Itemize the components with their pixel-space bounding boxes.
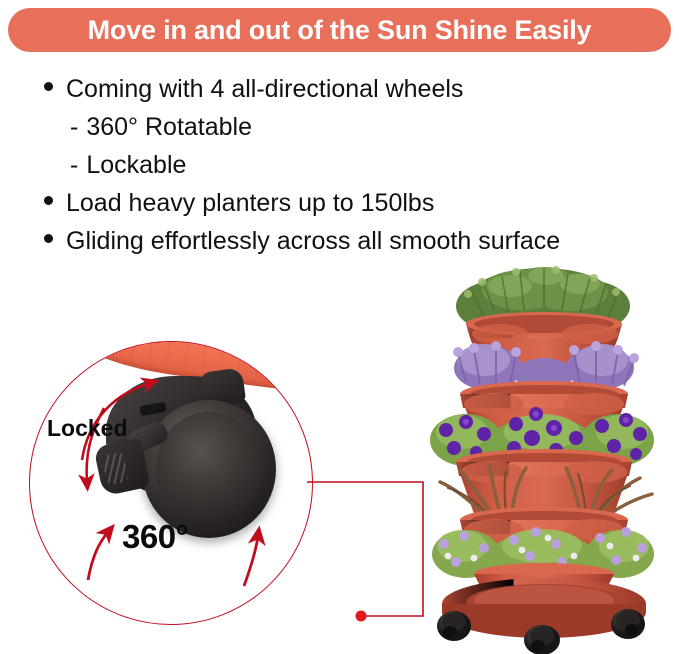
feature-item-label: Coming with 4 all-directional wheels bbox=[66, 70, 463, 108]
callout-ring: Locked 360° bbox=[29, 341, 313, 625]
planter-tower-image bbox=[404, 262, 679, 654]
base-caster-wheel-center bbox=[524, 625, 560, 654]
dash-marker-icon: - bbox=[70, 108, 78, 146]
feature-subitem-label: Lockable bbox=[86, 146, 186, 184]
feature-subitem-lockable: - Lockable bbox=[44, 146, 672, 184]
header-banner: Move in and out of the Sun Shine Easily bbox=[8, 8, 671, 52]
rotation-label: 360° bbox=[122, 518, 188, 556]
caster-brake-pad bbox=[93, 438, 150, 497]
feature-subitem-rotatable: - 360° Rotatable bbox=[44, 108, 672, 146]
planter-tower-svg bbox=[404, 262, 679, 654]
bullet-dot-icon bbox=[44, 234, 53, 243]
caster-hub bbox=[156, 412, 262, 524]
caster-callout: Locked 360° bbox=[29, 341, 313, 625]
feature-item-gliding: Gliding effortlessly across all smooth s… bbox=[44, 222, 672, 260]
connector-endpoint-dot bbox=[356, 611, 367, 622]
dash-marker-icon: - bbox=[70, 146, 78, 184]
feature-item-label: Load heavy planters up to 150lbs bbox=[66, 184, 434, 222]
feature-item-load-capacity: Load heavy planters up to 150lbs bbox=[44, 184, 672, 222]
bullet-dot-icon bbox=[44, 196, 53, 205]
bullet-dot-icon bbox=[44, 82, 53, 91]
feature-item-label: Gliding effortlessly across all smooth s… bbox=[66, 222, 560, 260]
feature-item-wheels: Coming with 4 all-directional wheels bbox=[44, 70, 672, 108]
locked-label: Locked bbox=[47, 415, 128, 442]
feature-list: Coming with 4 all-directional wheels - 3… bbox=[44, 70, 672, 260]
feature-subitem-label: 360° Rotatable bbox=[86, 108, 252, 146]
base-caster-wheel-right bbox=[611, 609, 645, 639]
page-title: Move in and out of the Sun Shine Easily bbox=[88, 17, 592, 44]
base-caster-wheel-left bbox=[437, 611, 471, 641]
